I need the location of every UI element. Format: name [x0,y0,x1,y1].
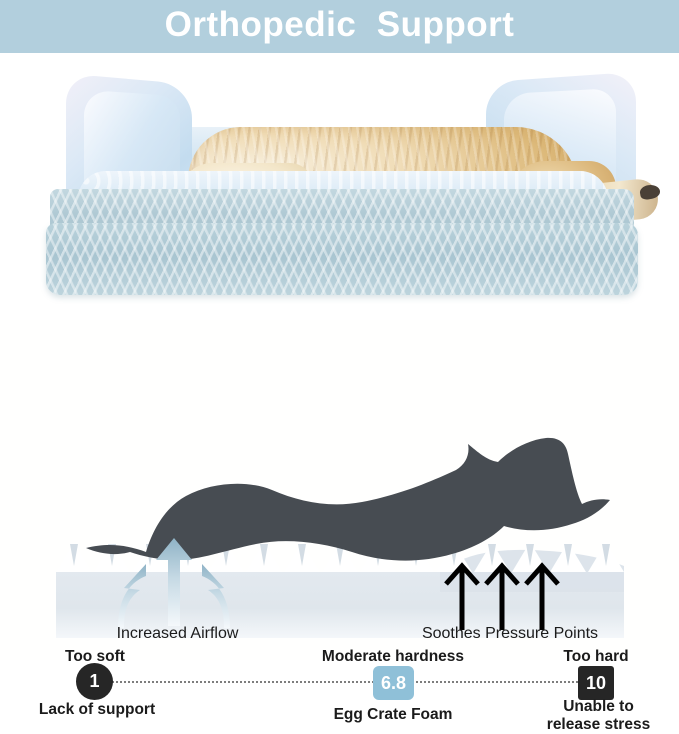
dog-bed-illustration [38,65,643,315]
scale-label-line-2: release stress [521,716,676,734]
scale-dotted-line [105,681,605,683]
label-soothes-pressure-points: Soothes Pressure Points [380,625,640,643]
scale-label-unable-to-release-stress: Unable to release stress [521,698,676,734]
scale-marker-6-8: 6.8 [373,666,414,700]
scale-label-lack-of-support: Lack of support [8,701,186,719]
scale-marker-10: 10 [578,666,614,700]
scale-label-egg-crate-foam: Egg Crate Foam [298,706,488,724]
foam-layer [56,542,624,638]
product-photo [0,53,679,320]
foam-diagram: Increased Airflow Soothes Pressure Point… [0,420,679,660]
label-increased-airflow: Increased Airflow [70,625,285,643]
dog-silhouette [86,438,610,561]
scale-label-line-1: Unable to [521,698,676,716]
quilt-texture-lower [46,223,638,295]
hardness-scale: Too soft 1 Lack of support Moderate hard… [0,320,679,420]
pressure-arrows [446,566,558,630]
page-title: Orthopedic Support [0,0,679,53]
bed-base-lower-slab [46,223,638,295]
scale-marker-1: 1 [76,663,113,700]
